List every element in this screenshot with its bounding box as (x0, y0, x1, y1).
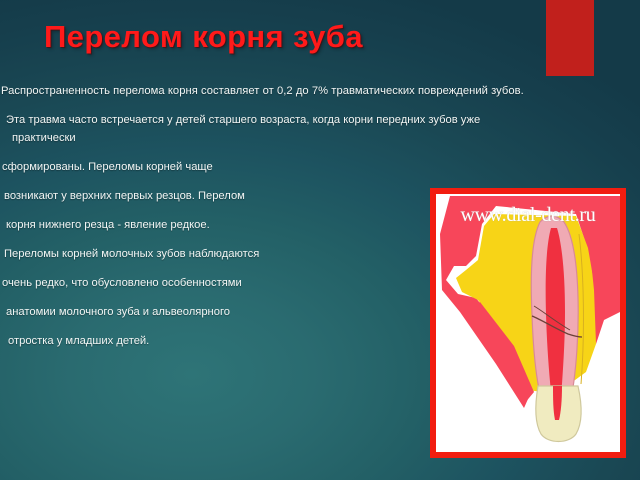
body-line: практически (0, 131, 640, 160)
decorative-red-block (546, 0, 594, 76)
tooth-illustration-frame: www.dial-dent.ru (430, 188, 626, 458)
body-line: сформированы. Переломы корней чаще (0, 160, 640, 189)
page-title: Перелом корня зуба (44, 20, 524, 54)
body-line: Эта травма часто встречается у детей ста… (0, 113, 640, 131)
body-line: Распространенность перелома корня состав… (0, 84, 640, 113)
presentation-slide: Перелом корня зуба Распространенность пе… (0, 0, 640, 480)
tooth-anatomy-diagram (436, 194, 620, 452)
tooth-illustration: www.dial-dent.ru (436, 194, 620, 452)
